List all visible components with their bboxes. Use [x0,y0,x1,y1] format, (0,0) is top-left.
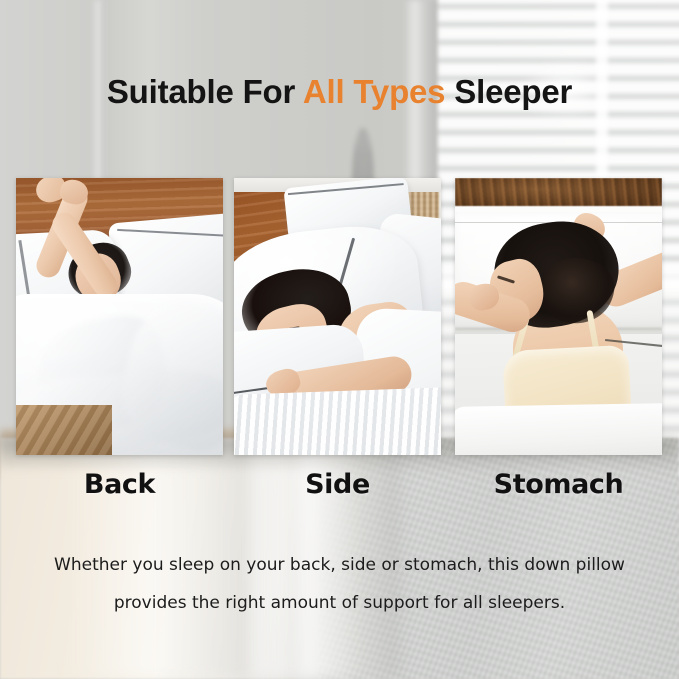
label-side: Side [234,468,441,502]
footer-line-2: provides the right amount of support for… [40,584,639,622]
photo-panel-side [234,178,441,455]
title-prefix: Suitable For [107,73,303,110]
striped-sheet [234,387,441,455]
photo-panel-back [16,178,223,455]
title-accent: All Types [303,73,445,110]
sleeper-types-infographic: Suitable For All Types Sleeper [0,0,679,679]
wood-floor [16,405,112,455]
back-sleeper-photo [16,178,223,455]
sheet-bottom [455,403,662,455]
stomach-sleeper-photo [455,178,662,455]
brown-rug [455,178,662,206]
sleeper-type-labels: Back Side Stomach [16,468,663,506]
page-title: Suitable For All Types Sleeper [0,72,679,112]
title-suffix: Sleeper [445,73,572,110]
side-sleeper-photo [234,178,441,455]
footer-line-1: Whether you sleep on your back, side or … [40,546,639,584]
footer-description: Whether you sleep on your back, side or … [40,546,639,622]
sleeper-photo-gallery [16,178,663,455]
label-stomach: Stomach [455,468,662,502]
label-back: Back [16,468,223,502]
photo-panel-stomach [455,178,662,455]
